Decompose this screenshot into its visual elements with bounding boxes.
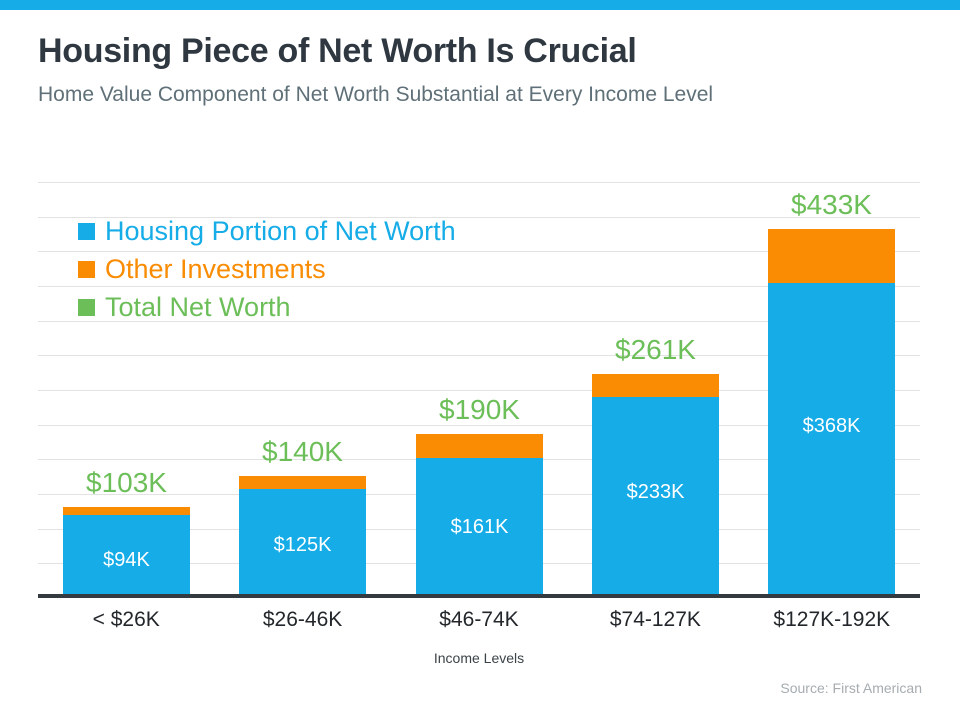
top-accent-band bbox=[0, 0, 960, 10]
bar-group[interactable]: $161K$190K bbox=[416, 434, 543, 594]
legend-swatch-icon bbox=[78, 223, 95, 240]
bar-group[interactable]: $94K$103K bbox=[63, 507, 190, 594]
bar-value-label-housing: $368K bbox=[768, 414, 895, 438]
x-axis-title: Income Levels bbox=[38, 650, 920, 666]
x-axis-labels: < $26K$26-46K$46-74K$74-127K$127K-192K bbox=[38, 606, 920, 640]
bar-segment-other-investments[interactable] bbox=[768, 229, 895, 284]
bar-value-label-housing: $94K bbox=[63, 548, 190, 572]
bar-value-label-housing: $161K bbox=[416, 515, 543, 539]
x-axis-tick-label: $74-127K bbox=[567, 606, 743, 634]
bar-total-label: $190K bbox=[416, 394, 543, 426]
bar-segment-housing-portion[interactable]: $368K bbox=[768, 283, 895, 594]
bar-total-label: $433K bbox=[768, 189, 895, 221]
legend-item-label: Other Investments bbox=[105, 253, 326, 285]
bar-segment-housing-portion[interactable]: $125K bbox=[239, 489, 366, 594]
chart-legend: Housing Portion of Net WorthOther Invest… bbox=[78, 212, 456, 326]
legend-swatch-icon bbox=[78, 299, 95, 316]
x-axis-tick-label: $127K-192K bbox=[744, 606, 920, 634]
bar-total-label: $261K bbox=[592, 334, 719, 366]
source-note: Source: First American bbox=[780, 680, 922, 696]
legend-swatch-icon bbox=[78, 261, 95, 278]
bar-value-label-housing: $125K bbox=[239, 533, 366, 557]
legend-item[interactable]: Housing Portion of Net Worth bbox=[78, 212, 456, 250]
bar-group[interactable]: $125K$140K bbox=[239, 476, 366, 594]
bar-segment-housing-portion[interactable]: $161K bbox=[416, 458, 543, 594]
bar-total-label: $103K bbox=[63, 467, 190, 499]
bar-segment-other-investments[interactable] bbox=[63, 507, 190, 515]
legend-item[interactable]: Other Investments bbox=[78, 250, 456, 288]
bar-segment-housing-portion[interactable]: $233K bbox=[592, 397, 719, 594]
bar-segment-other-investments[interactable] bbox=[416, 434, 543, 458]
bar-segment-housing-portion[interactable]: $94K bbox=[63, 515, 190, 594]
bar-group[interactable]: $233K$261K bbox=[592, 374, 719, 594]
bar-segment-other-investments[interactable] bbox=[239, 476, 366, 489]
bar-segment-other-investments[interactable] bbox=[592, 374, 719, 398]
bar-group[interactable]: $368K$433K bbox=[768, 229, 895, 594]
page-title: Housing Piece of Net Worth Is Crucial bbox=[38, 30, 928, 72]
bar-total-label: $140K bbox=[239, 436, 366, 468]
legend-item-label: Housing Portion of Net Worth bbox=[105, 215, 456, 247]
x-axis-tick-label: $46-74K bbox=[391, 606, 567, 634]
x-axis-tick-label: < $26K bbox=[38, 606, 214, 634]
bar-value-label-housing: $233K bbox=[592, 480, 719, 504]
legend-item-label: Total Net Worth bbox=[105, 291, 291, 323]
chart-header: Housing Piece of Net Worth Is Crucial Ho… bbox=[38, 30, 928, 110]
x-axis-tick-label: $26-46K bbox=[214, 606, 390, 634]
x-axis-line bbox=[38, 594, 920, 598]
page-subtitle: Home Value Component of Net Worth Substa… bbox=[38, 80, 928, 110]
legend-item[interactable]: Total Net Worth bbox=[78, 288, 456, 326]
